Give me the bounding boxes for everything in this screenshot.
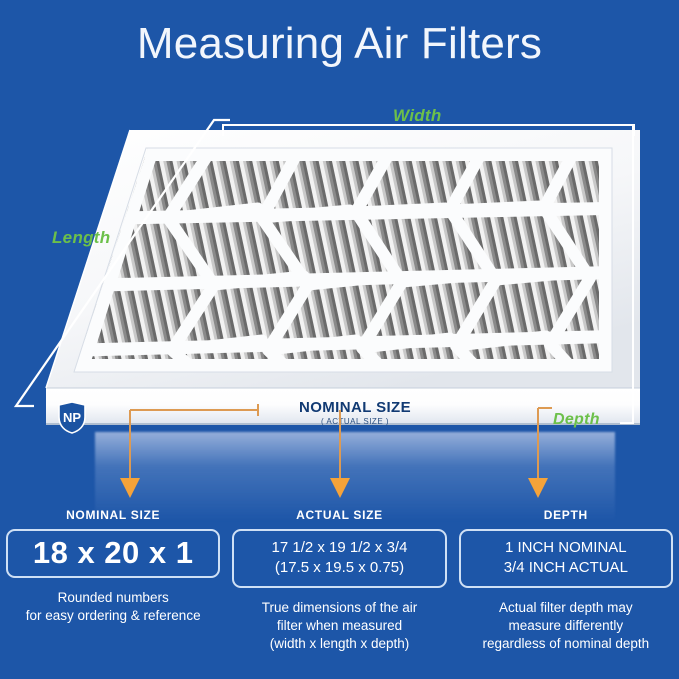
card-actual-size: ACTUAL SIZE 17 1/2 x 19 1/2 x 3/4 (17.5 … (226, 508, 452, 668)
arrow-head-nominal (120, 478, 140, 498)
depth-bracket (620, 124, 634, 424)
card-value-line: 1 INCH NOMINAL (505, 538, 627, 558)
card-value-line: (17.5 x 19.5 x 0.75) (275, 558, 404, 578)
card-nominal-size: NOMINAL SIZE 18 x 20 x 1 Rounded numbers… (0, 508, 226, 668)
card-depth: DEPTH 1 INCH NOMINAL 3/4 INCH ACTUAL Act… (453, 508, 679, 668)
arrow-head-actual (330, 478, 350, 498)
card-caption: Rounded numbers for easy ordering & refe… (6, 589, 220, 625)
card-value-line: 18 x 20 x 1 (33, 535, 194, 572)
caption-line: True dimensions of the air (232, 599, 446, 617)
length-bracket (8, 118, 248, 418)
width-label: Width (393, 106, 442, 126)
card-caption: True dimensions of the air filter when m… (232, 599, 446, 654)
card-value-box: 17 1/2 x 19 1/2 x 3/4 (17.5 x 19.5 x 0.7… (232, 529, 446, 588)
callout-connectors (0, 390, 679, 520)
card-caption: Actual filter depth may measure differen… (459, 599, 673, 654)
infographic-page: Measuring Air Filters (0, 0, 679, 679)
card-value-box: 18 x 20 x 1 (6, 529, 220, 578)
caption-line: measure differently (459, 617, 673, 635)
card-heading: ACTUAL SIZE (232, 508, 446, 522)
page-title: Measuring Air Filters (0, 22, 679, 66)
caption-line: filter when measured (232, 617, 446, 635)
caption-line: Actual filter depth may (459, 599, 673, 617)
length-label: Length (52, 228, 110, 248)
card-heading: NOMINAL SIZE (6, 508, 220, 522)
caption-line: for easy ordering & reference (6, 607, 220, 625)
card-value-box: 1 INCH NOMINAL 3/4 INCH ACTUAL (459, 529, 673, 588)
arrow-head-depth (528, 478, 548, 498)
caption-line: (width x length x depth) (232, 635, 446, 653)
info-cards: NOMINAL SIZE 18 x 20 x 1 Rounded numbers… (0, 508, 679, 668)
card-value-line: 17 1/2 x 19 1/2 x 3/4 (272, 538, 408, 558)
card-heading: DEPTH (459, 508, 673, 522)
caption-line: Rounded numbers (6, 589, 220, 607)
caption-line: regardless of nominal depth (459, 635, 673, 653)
card-value-line: 3/4 INCH ACTUAL (504, 558, 628, 578)
